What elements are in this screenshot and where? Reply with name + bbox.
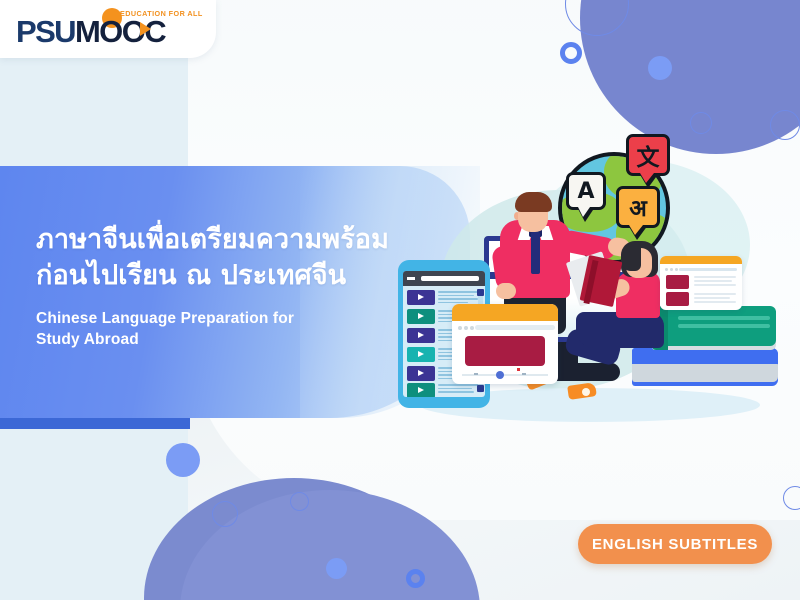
article-card-window xyxy=(660,256,742,310)
article-line xyxy=(694,293,736,295)
window-url-field xyxy=(679,268,737,271)
decorative-ring-5 xyxy=(290,492,309,511)
tablet-scroll-handle-bottom xyxy=(477,385,484,392)
play-icon xyxy=(418,351,424,357)
article-line xyxy=(694,301,736,303)
chinese-character-glyph: 文 xyxy=(637,138,660,172)
video-control-prev-icon xyxy=(474,373,478,375)
article-line xyxy=(694,284,736,286)
video-player-addressbar xyxy=(458,325,552,331)
video-player-window xyxy=(452,304,558,384)
video-list-item xyxy=(407,383,481,397)
man-tie xyxy=(531,232,540,274)
article-line xyxy=(694,297,730,299)
play-icon xyxy=(418,370,424,376)
window-dot-3 xyxy=(470,326,474,330)
article-thumbnail-1 xyxy=(666,275,689,289)
book-green-line-1 xyxy=(678,316,770,320)
decorative-ring-thick-1 xyxy=(560,42,582,64)
window-dot-1 xyxy=(665,268,668,271)
article-card-titlebar xyxy=(660,256,742,264)
article-line xyxy=(694,276,736,278)
hero-title-accent-strip xyxy=(0,418,190,429)
brand-wordmark-mooc: MOOC xyxy=(75,14,165,49)
bubble-tail-fill xyxy=(578,207,590,217)
banner-canvas: A 文 अ xyxy=(0,0,800,600)
bubble-tail-fill xyxy=(640,173,654,183)
logo-play-icon xyxy=(140,22,151,36)
video-player-surface xyxy=(465,336,545,366)
hero-title-thai-line1: ภาษาจีนเพื่อเตรียมความพร้อม xyxy=(36,222,446,258)
play-icon xyxy=(418,387,424,393)
bubble-tail-fill xyxy=(629,225,643,235)
decorative-ring-6 xyxy=(783,486,800,510)
man-left-hand xyxy=(496,283,516,299)
decorative-dot-3 xyxy=(326,558,347,579)
window-url-field xyxy=(475,325,555,330)
decorative-dot-1 xyxy=(648,56,672,80)
video-marker xyxy=(517,368,520,371)
man-hair xyxy=(515,192,552,212)
latin-letter-bubble-icon: A xyxy=(566,172,606,210)
hero-text-block: ภาษาจีนเพื่อเตรียมความพร้อม ก่อนไปเรียน … xyxy=(36,222,446,350)
brand-wordmark-psu: PSU xyxy=(16,14,75,49)
video-meta-lines xyxy=(438,384,480,395)
hero-title-thai-line2: ก่อนไปเรียน ณ ประเทศจีน xyxy=(36,258,446,294)
woman-shoe-2-detail xyxy=(582,388,590,396)
hero-subtitle-english-line1: Chinese Language Preparation for xyxy=(36,308,446,329)
logo-o-notch xyxy=(173,23,184,34)
chinese-character-bubble-icon: 文 xyxy=(626,134,670,176)
book-green-line-2 xyxy=(678,324,770,328)
tablet-scroll-handle-top xyxy=(477,289,484,296)
hero-subtitle-english-line2: Study Abroad xyxy=(36,329,446,350)
video-play-button[interactable] xyxy=(496,371,504,379)
window-dot-2 xyxy=(670,268,673,271)
decorative-ring-thick-2 xyxy=(406,569,425,588)
woman-hair-front xyxy=(621,241,641,271)
book-blue-cover xyxy=(632,348,778,364)
video-player-titlebar xyxy=(452,304,558,321)
decorative-ring-4 xyxy=(212,501,238,527)
article-line xyxy=(694,280,732,282)
devanagari-character-glyph: अ xyxy=(629,191,647,223)
video-control-next-icon xyxy=(522,373,526,375)
article-thumbnail-2 xyxy=(666,292,689,306)
brand-logo-plate[interactable]: EDUCATION FOR ALL PSUMOOC xyxy=(0,0,216,58)
english-subtitles-button[interactable]: ENGLISH SUBTITLES xyxy=(578,524,772,564)
window-dot-3 xyxy=(675,268,678,271)
window-dot-1 xyxy=(458,326,462,330)
video-player-controls xyxy=(462,371,548,378)
article-card-addressbar xyxy=(665,267,737,271)
english-subtitles-button-label: ENGLISH SUBTITLES xyxy=(592,536,758,553)
brand-logo[interactable]: EDUCATION FOR ALL PSUMOOC xyxy=(16,8,196,50)
window-dot-2 xyxy=(464,326,468,330)
decorative-dot-2 xyxy=(166,443,200,477)
devanagari-character-bubble-icon: अ xyxy=(616,186,660,228)
latin-letter-glyph: A xyxy=(577,179,594,204)
